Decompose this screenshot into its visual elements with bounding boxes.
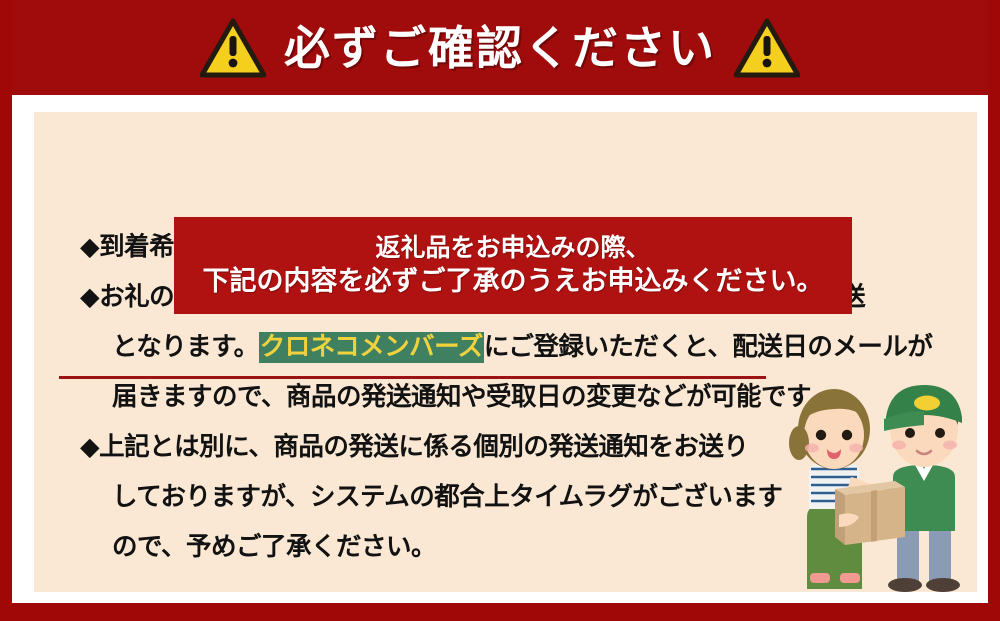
page-title: 必ずご確認ください — [284, 25, 716, 71]
delivery-illustration — [747, 377, 977, 592]
notice-line-2: 下記の内容を必ずご了承のうえお申込みください。 — [203, 266, 824, 297]
kuroneko-members-highlight: クロネコメンバーズ — [259, 332, 484, 363]
cardboard-box — [835, 481, 905, 545]
warning-triangle-icon — [734, 18, 800, 78]
bullet-line: となります。クロネコメンバーズにご登録いただくと、配送日のメールが — [80, 322, 910, 372]
first-bullet-underline — [59, 376, 766, 379]
content-panel: 返礼品をお申込みの際、 下記の内容を必ずご了承のうえお申込みください。 ◆到着希… — [34, 112, 977, 592]
notice-banner: 必ずご確認ください 返礼品をお申込みの際、 下記の内容を必ずご了承のうえお申込み… — [0, 0, 1000, 621]
header-bar: 必ずご確認ください — [0, 0, 1000, 95]
notice-block: 返礼品をお申込みの際、 下記の内容を必ずご了承のうえお申込みください。 — [174, 217, 852, 314]
notice-line-1: 返礼品をお申込みの際、 — [375, 234, 650, 263]
warning-triangle-icon — [200, 18, 266, 78]
bullet-text-pre: となります。 — [112, 333, 259, 361]
footer-bar — [0, 603, 1000, 621]
bullet-text-post: にご登録いただくと、配送日のメールが — [484, 333, 932, 361]
